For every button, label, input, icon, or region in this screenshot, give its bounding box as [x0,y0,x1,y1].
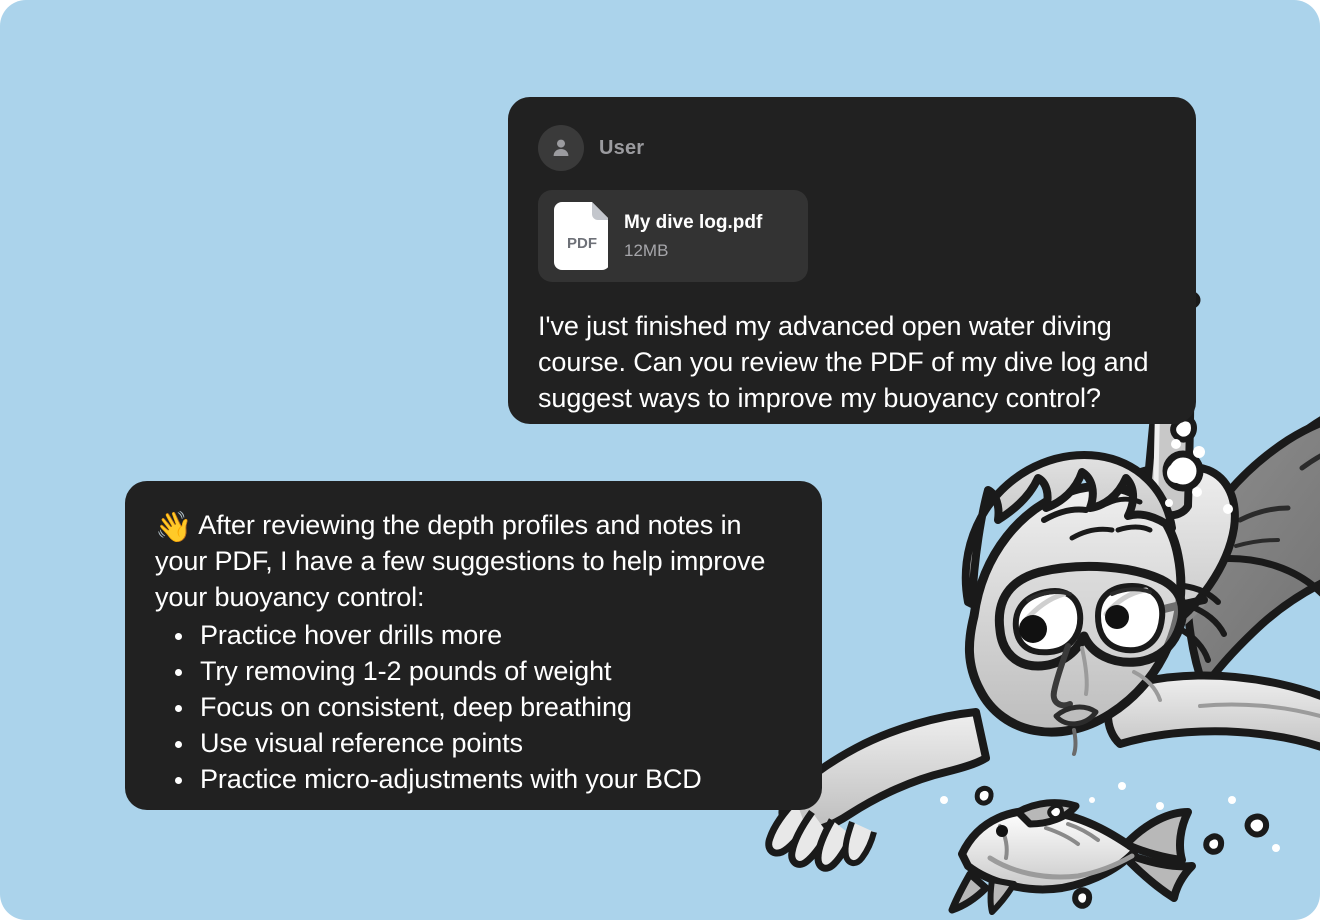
assistant-message-bubble: 👋After reviewing the depth profiles and … [125,481,822,810]
attachment-card[interactable]: PDF My dive log.pdf 12MB [538,190,808,282]
suggestion-list: Practice hover drills more Try removing … [155,617,792,797]
attachment-file-name: My dive log.pdf [624,212,762,234]
attachment-file-size: 12MB [624,241,762,261]
list-item: Focus on consistent, deep breathing [155,689,792,725]
list-item: Use visual reference points [155,725,792,761]
user-message-bubble: User PDF My dive log.pdf 12MB I've just … [508,97,1196,424]
list-item: Practice micro-adjustments with your BCD [155,761,792,797]
list-item: Practice hover drills more [155,617,792,653]
user-header: User [538,125,1166,171]
pdf-file-icon: PDF [554,202,608,270]
list-item: Try removing 1-2 pounds of weight [155,653,792,689]
attachment-meta: My dive log.pdf 12MB [624,212,762,261]
waving-hand-emoji: 👋 [155,511,192,544]
assistant-intro-text: After reviewing the depth profiles and n… [155,510,765,612]
user-message-text: I've just finished my advanced open wate… [538,308,1166,416]
assistant-intro-paragraph: 👋After reviewing the depth profiles and … [155,507,792,615]
screenshot-root: User PDF My dive log.pdf 12MB I've just … [0,0,1320,920]
pdf-icon-label: PDF [567,235,597,252]
chat-layer: User PDF My dive log.pdf 12MB I've just … [0,0,1320,920]
user-avatar-icon [538,125,584,171]
sender-label: User [599,137,644,160]
